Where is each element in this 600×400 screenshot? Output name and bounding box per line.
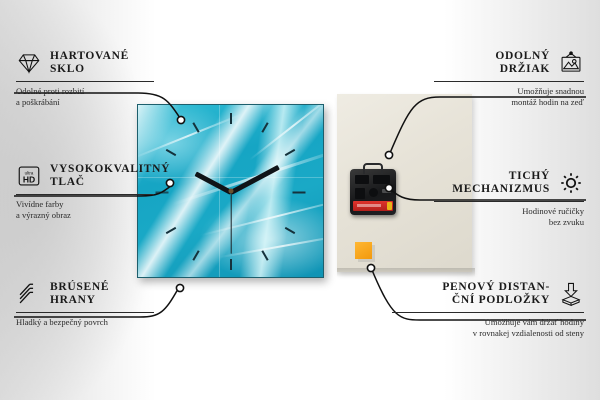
feature-header: HARTOVANÉ SKLO (16, 50, 196, 76)
feature-title-line1: ODOLNÝ (495, 50, 550, 63)
feature-title-line1: PENOVÝ DISTAN- (442, 281, 550, 294)
movement-detail (382, 189, 391, 193)
feature-holder: ODOLNÝ DRŽIAK Umožňuje snadnou montáž ho… (404, 50, 584, 108)
feature-title-line1: TICHÝ (509, 170, 550, 183)
feature-title-line1: BRÚSENÉ (50, 281, 109, 294)
feature-divider (16, 194, 154, 195)
feature-header: PENOVÝ DISTAN- ČNÍ PODLOŽKY (392, 281, 584, 307)
movement-detail (355, 188, 365, 199)
feature-divider (434, 81, 584, 82)
ultra-hd-big-label: HD (23, 175, 35, 185)
feature-header: ultra HD VYSOKOKVALITNÝ TLAČ (16, 163, 196, 189)
feature-divider (16, 312, 154, 313)
clock-tick-11 (192, 122, 199, 133)
movement-detail (373, 175, 390, 184)
clock-battery (353, 201, 393, 211)
feature-desc-line1: Hladký a bezpečný povrch (16, 317, 196, 328)
feature-mechanism: TICHÝ MECHANIZMUS Hodinové ručičky bez z… (404, 170, 584, 228)
feature-desc-line2: bez zvuku (404, 217, 584, 228)
feature-desc-line2: montáž hodin na zeď (404, 97, 584, 108)
feature-titles: PENOVÝ DISTAN- ČNÍ PODLOŽKY (442, 281, 550, 307)
feature-divider (434, 201, 584, 202)
glass-seam-vertical (219, 105, 220, 277)
feature-titles: BRÚSENÉ HRANY (50, 281, 109, 307)
clock-tick-2 (285, 149, 296, 156)
feature-title-line1: VYSOKOKVALITNÝ (50, 163, 170, 176)
feature-titles: VYSOKOKVALITNÝ TLAČ (50, 163, 170, 189)
feature-title-line2: MECHANIZMUS (452, 183, 550, 196)
feature-title-line2: DRŽIAK (500, 63, 550, 76)
feature-title-line2: HRANY (50, 294, 109, 307)
diamond-icon (16, 50, 42, 76)
feature-divider (16, 81, 154, 82)
feature-desc-line1: Hodinové ručičky (404, 206, 584, 217)
wall-frame-hanger-icon (558, 50, 584, 76)
feather-streak (219, 234, 324, 259)
feature-titles: ODOLNÝ DRŽIAK (495, 50, 550, 76)
feature-title-line2: ČNÍ PODLOŽKY (452, 294, 550, 307)
feature-title-line2: SKLO (50, 63, 129, 76)
clock-second-hand (230, 192, 231, 254)
battery-terminal (387, 202, 392, 210)
clock-tick-10 (166, 149, 177, 156)
feather-streak (137, 113, 244, 160)
gear-icon (558, 170, 584, 196)
feature-titles: TICHÝ MECHANIZMUS (452, 170, 550, 196)
feature-desc-line2: a poškrábání (16, 97, 196, 108)
feature-desc-line1: Umožňuje snadnou (404, 86, 584, 97)
feature-titles: HARTOVANÉ SKLO (50, 50, 129, 76)
battery-label-strip (357, 204, 381, 207)
feature-desc-line1: Odolné proti rozbití (16, 86, 196, 97)
clock-tick-12 (230, 113, 232, 124)
clock-tick-1 (261, 122, 268, 133)
clock-hub (228, 189, 233, 194)
movement-detail (355, 175, 369, 184)
clock-minute-hand (229, 165, 279, 195)
feature-title-line1: HARTOVANÉ (50, 50, 129, 63)
feature-foam-spacers: PENOVÝ DISTAN- ČNÍ PODLOŽKY Umožňuje vám… (392, 281, 584, 339)
clock-tick-5 (261, 250, 268, 261)
feature-desc-line2: a výrazný obraz (16, 210, 196, 221)
feature-desc-line2: v rovnakej vzdialenosti od steny (392, 328, 584, 339)
feature-header: BRÚSENÉ HRANY (16, 281, 196, 307)
clock-tick-8 (166, 227, 177, 234)
movement-hanger-icon (363, 163, 383, 174)
clock-movement (350, 169, 396, 215)
feature-desc-line1: Umožňuje vám držať hodiny (392, 317, 584, 328)
feature-polished-edges: BRÚSENÉ HRANY Hladký a bezpečný povrch (16, 281, 196, 328)
clock-tick-6 (230, 259, 232, 270)
foam-spacer-icon (558, 281, 584, 307)
foam-spacer-pad (355, 242, 372, 259)
feature-desc-line1: Vivídne farby (16, 199, 196, 210)
ultra-hd-icon: ultra HD (16, 163, 42, 189)
feature-divider (392, 312, 584, 313)
clock-tick-3 (293, 192, 306, 194)
product-infographic: HARTOVANÉ SKLO Odolné proti rozbití a po… (0, 0, 600, 400)
feature-header: TICHÝ MECHANIZMUS (404, 170, 584, 196)
panel-drop-shadow (337, 268, 475, 277)
clock-tick-7 (192, 250, 199, 261)
feature-hardened-glass: HARTOVANÉ SKLO Odolné proti rozbití a po… (16, 50, 196, 108)
clock-tick-4 (285, 227, 296, 234)
feature-title-line2: TLAČ (50, 176, 170, 189)
feature-hd-print: ultra HD VYSOKOKVALITNÝ TLAČ Vivídne far… (16, 163, 196, 221)
feature-header: ODOLNÝ DRŽIAK (404, 50, 584, 76)
polished-edges-icon (16, 281, 42, 307)
movement-detail (369, 188, 378, 197)
